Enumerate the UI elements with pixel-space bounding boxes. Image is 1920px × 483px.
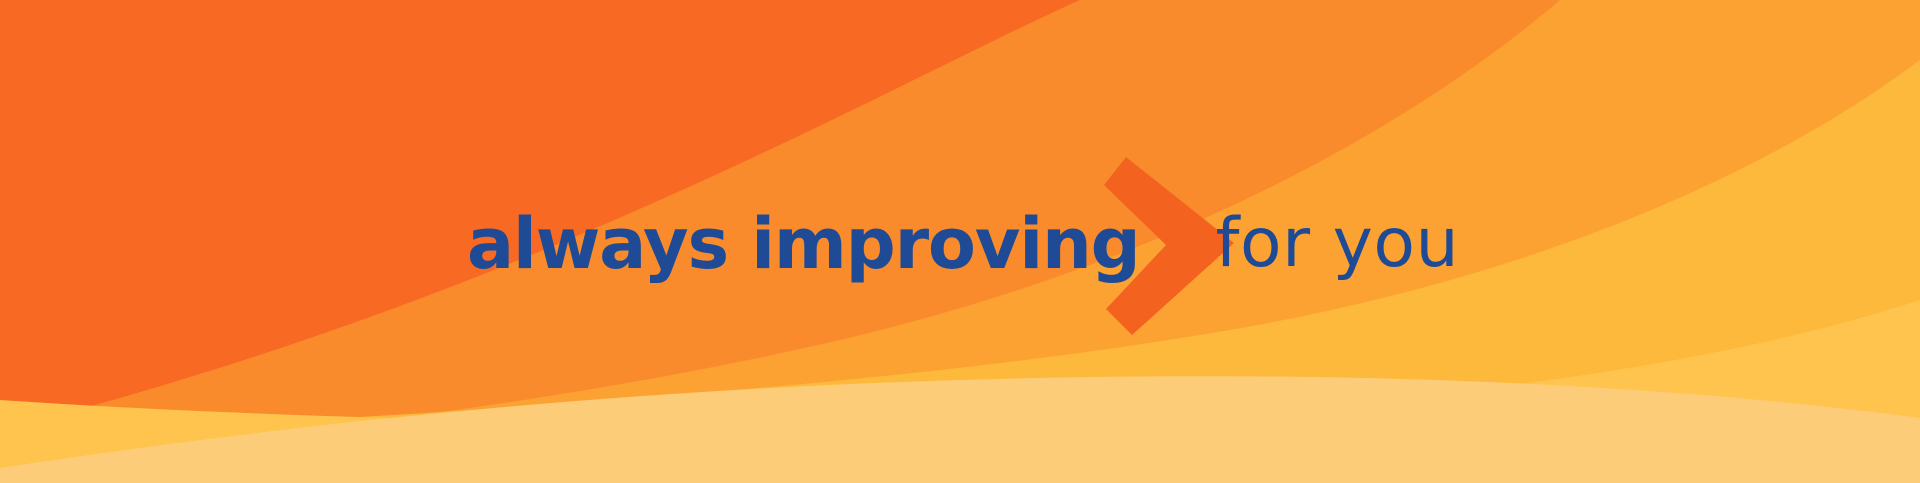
promotional-banner: always improving for you <box>0 0 1920 483</box>
background-wave-graphic <box>0 0 1920 483</box>
